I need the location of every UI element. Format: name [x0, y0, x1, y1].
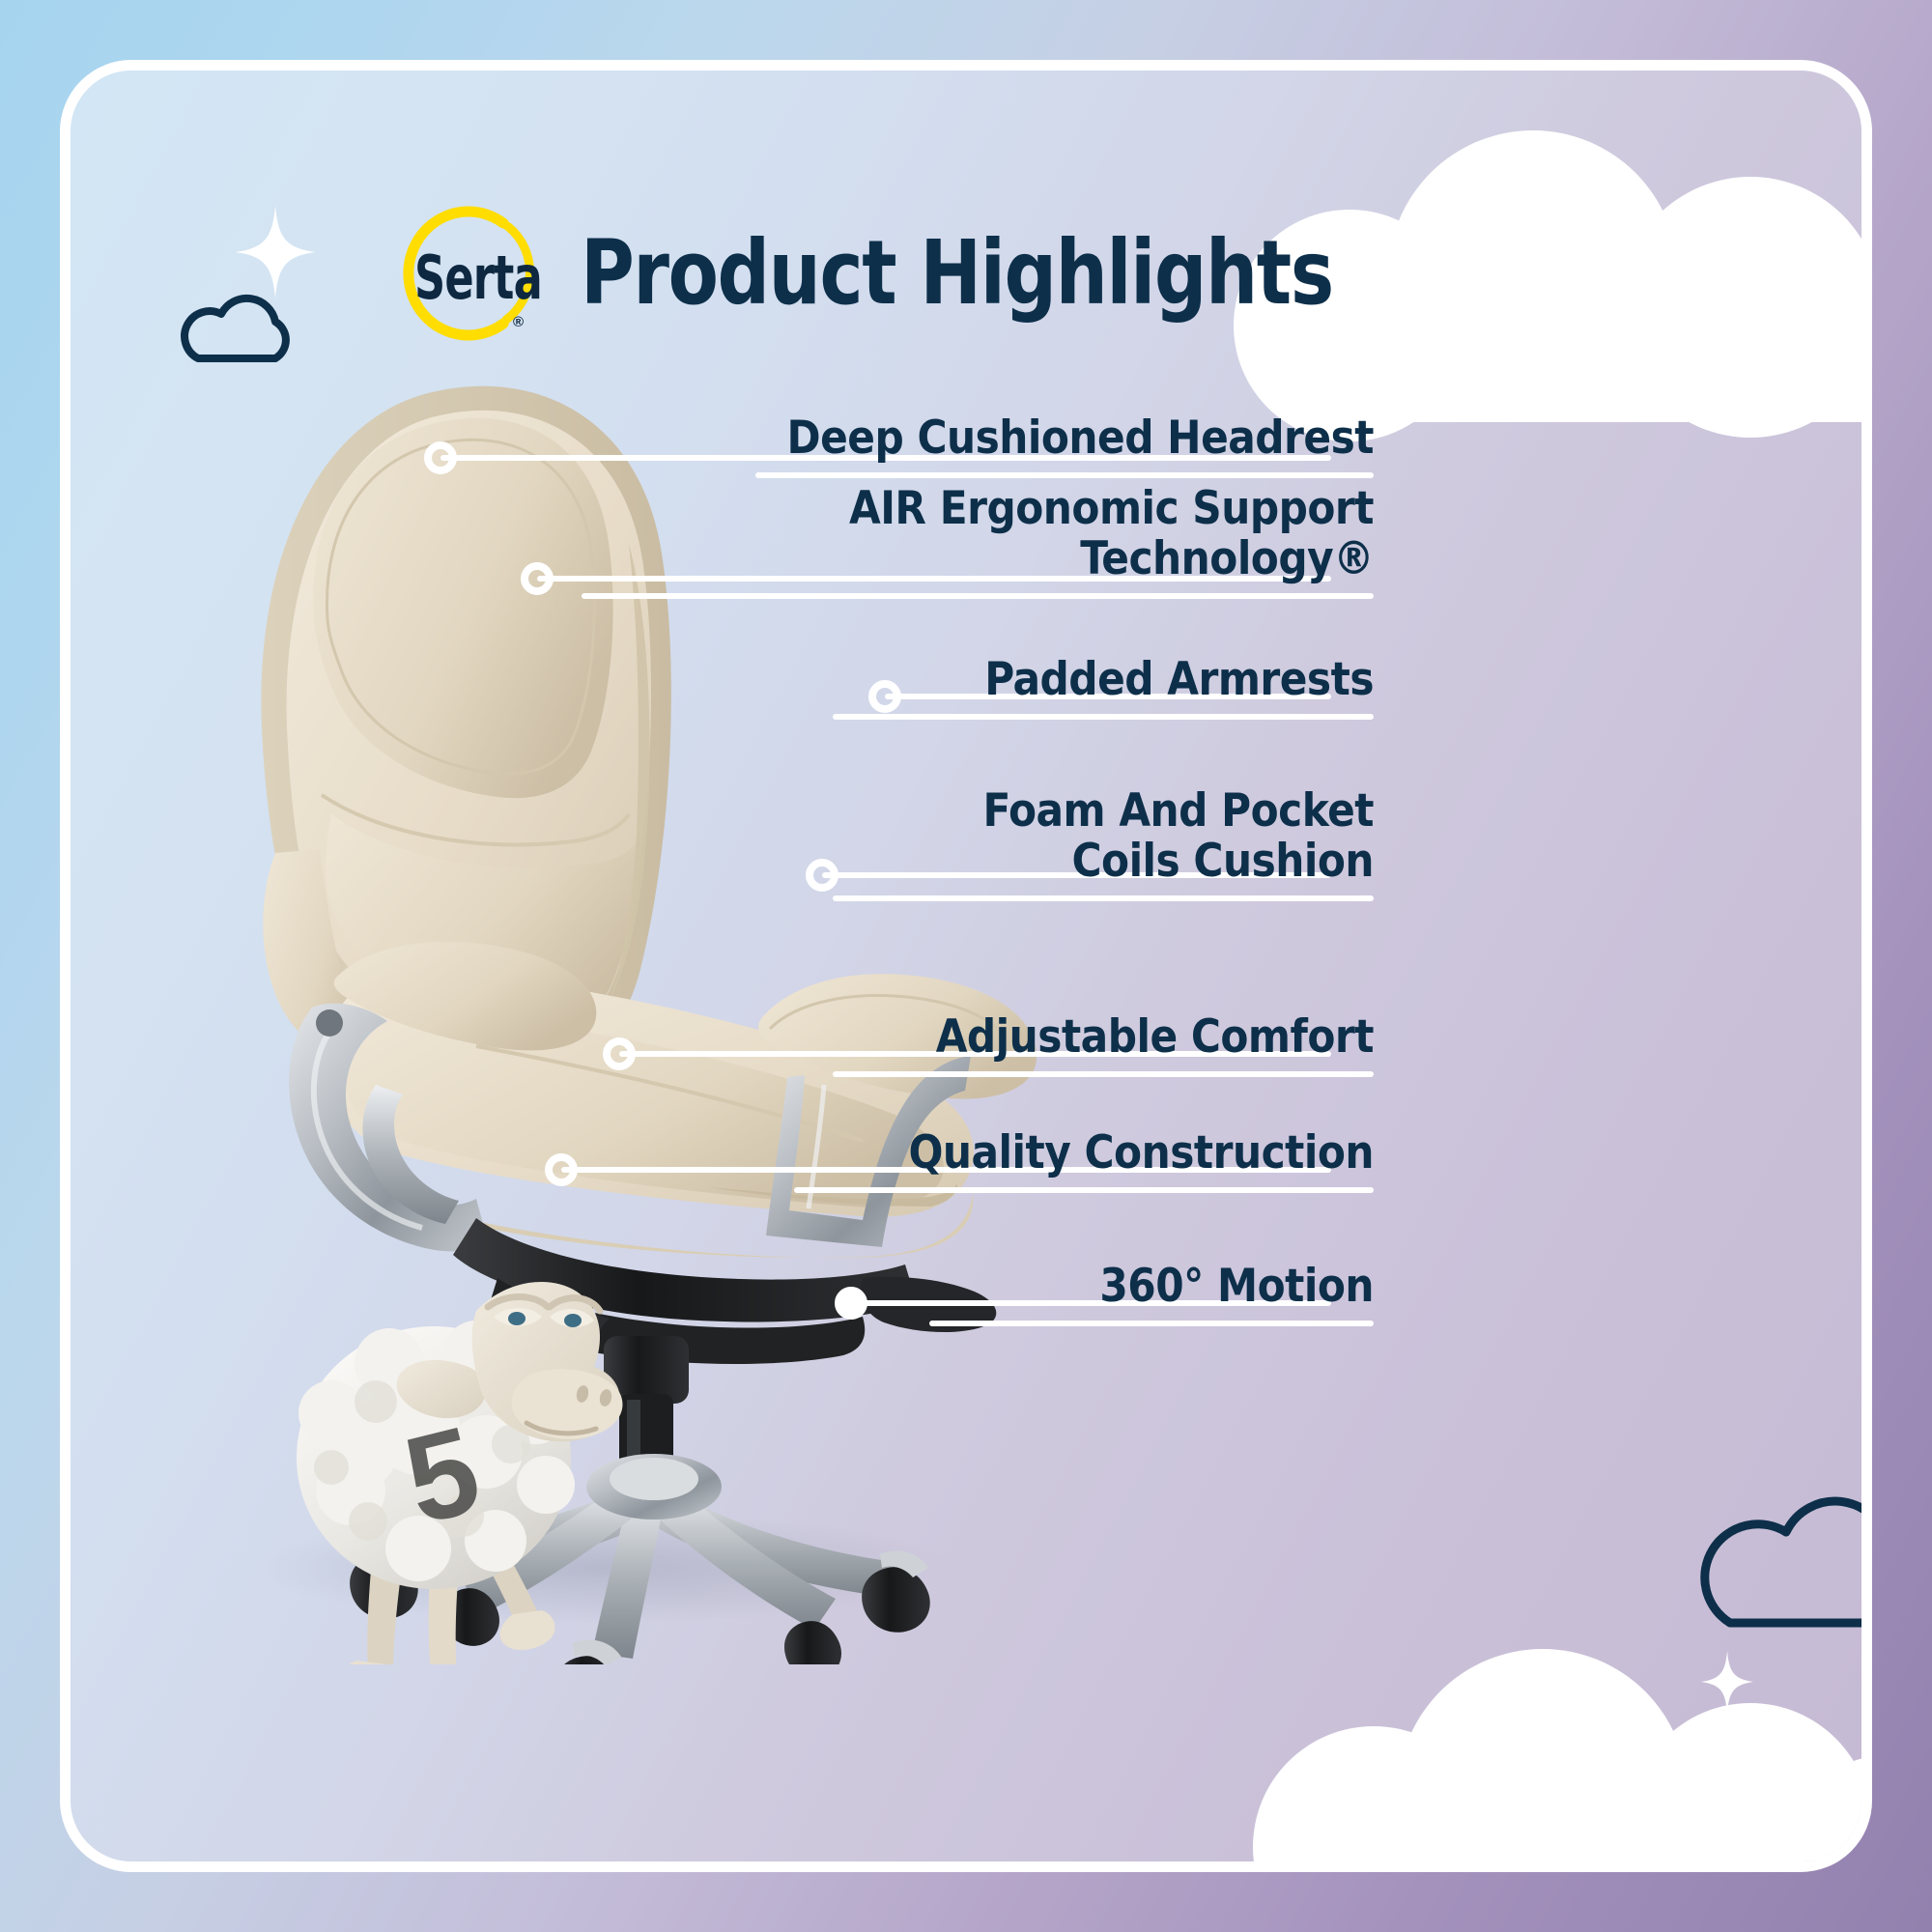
page-title: Product Highlights	[581, 229, 1333, 318]
callout-air-support: AIR Ergonomic Support Technology®	[582, 510, 1374, 599]
callout-label: Padded Armrests	[984, 655, 1374, 706]
callout-motion: 360° Motion	[929, 1237, 1374, 1326]
callout-adjustable: Adjustable Comfort	[833, 988, 1374, 1077]
serta-logo: Serta ®	[389, 206, 555, 341]
callout-construction: Quality Construction	[794, 1104, 1374, 1193]
callout-rule	[794, 1187, 1374, 1193]
callout-label: Adjustable Comfort	[936, 1012, 1374, 1064]
serta-registered-mark: ®	[513, 314, 524, 330]
callout-rule	[582, 593, 1374, 599]
callout-rule	[755, 472, 1374, 478]
callout-label: Foam And Pocket Coils Cushion	[982, 786, 1374, 888]
callout-headrest: Deep Cushioned Headrest	[755, 389, 1374, 478]
callout-rule	[833, 895, 1374, 901]
serta-wordmark: Serta	[414, 242, 542, 313]
cloud-outline-icon	[1699, 1493, 1872, 1638]
callout-cushion: Foam And Pocket Coils Cushion	[833, 747, 1374, 901]
callout-label: AIR Ergonomic Support Technology®	[582, 484, 1374, 585]
callout-label: 360° Motion	[1099, 1262, 1374, 1313]
callout-label: Deep Cushioned Headrest	[786, 413, 1374, 465]
callout-label: Quality Construction	[908, 1128, 1374, 1179]
callout-rule	[929, 1321, 1374, 1326]
callout-rule	[833, 1071, 1374, 1077]
page-header: Serta ® Product Highlights	[389, 206, 1399, 341]
callout-rule	[833, 714, 1374, 720]
cloud-filled-icon	[1253, 1610, 1872, 1872]
sparkle-icon	[235, 206, 316, 298]
sparkle-icon	[1701, 1651, 1753, 1713]
callout-armrests: Padded Armrests	[833, 631, 1374, 720]
content-panel: Serta ® Product Highlights	[60, 60, 1872, 1872]
